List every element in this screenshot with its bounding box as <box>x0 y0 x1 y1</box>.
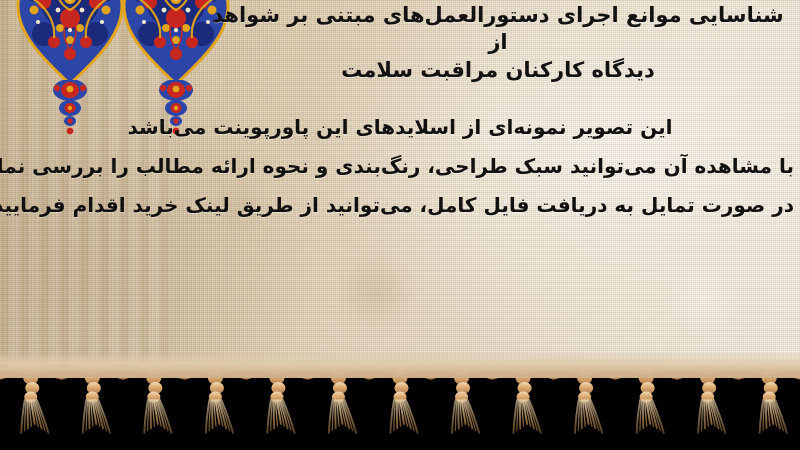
slide-body: این تصویر نمونه‌ای از اسلایدهای این پاور… <box>6 108 794 225</box>
slide-title-line-1: شناسایی موانع اجرای دستورالعمل‌های مبتنی… <box>208 2 788 57</box>
slide-body-line-3: در صورت تمایل به دریافت فایل کامل، می‌تو… <box>6 186 794 225</box>
slide-canvas: شناسایی موانع اجرای دستورالعمل‌های مبتنی… <box>0 0 800 450</box>
slide-title: شناسایی موانع اجرای دستورالعمل‌های مبتنی… <box>208 2 788 84</box>
black-background-area <box>0 368 800 450</box>
slide-body-line-2: با مشاهده آن می‌توانید سبک طراحی، رنگ‌بن… <box>6 147 794 186</box>
slide-body-line-1: این تصویر نمونه‌ای از اسلایدهای این پاور… <box>6 108 794 147</box>
slide-title-line-2: دیدگاه کارکنان مراقبت سلامت <box>208 57 788 84</box>
